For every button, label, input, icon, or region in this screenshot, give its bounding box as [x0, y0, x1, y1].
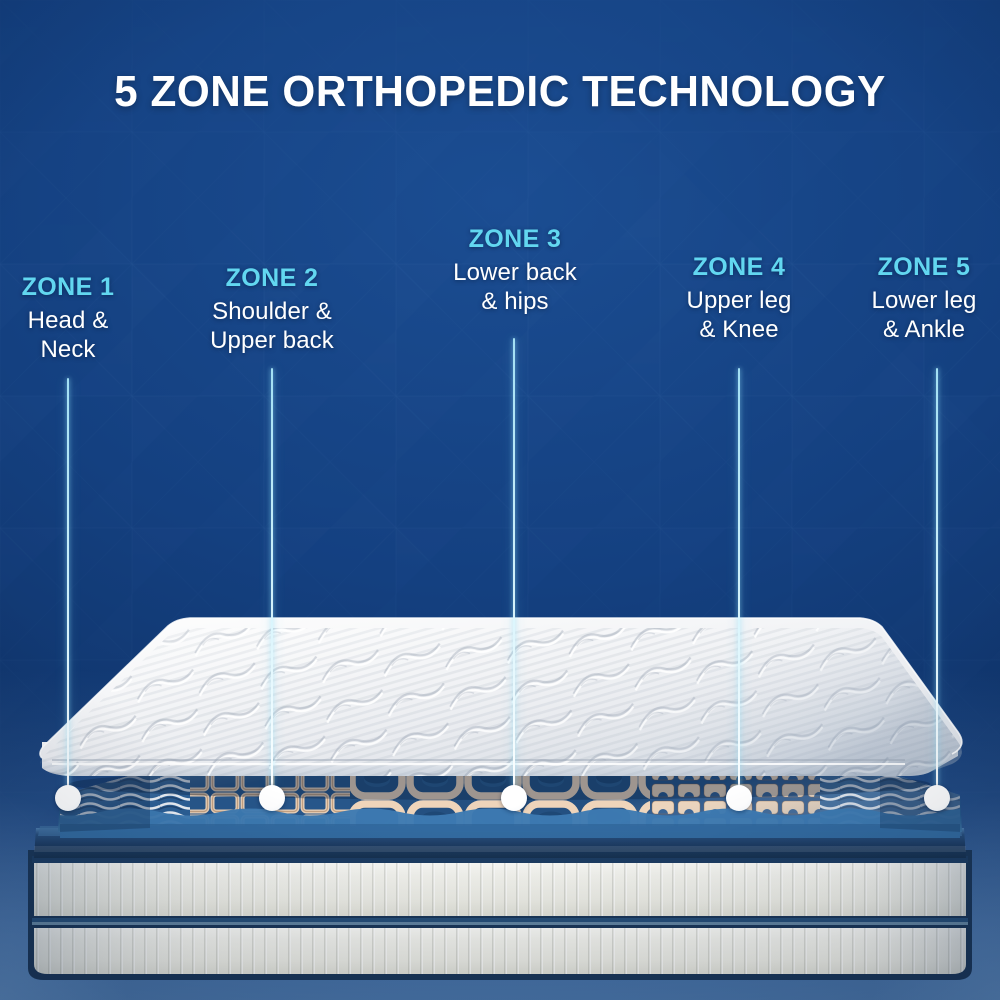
zone-5-desc-line-2: & Ankle [848, 315, 1000, 344]
zone-3-name: ZONE 3 [420, 224, 610, 255]
zone-5-desc-line-1: Lower leg [848, 286, 1000, 315]
zone-3-label: ZONE 3 Lower back & hips [420, 224, 610, 316]
zone-5-name: ZONE 5 [848, 252, 1000, 283]
zone-2-leader-line [271, 368, 273, 803]
zone-1-desc-line-1: Head & [0, 306, 136, 335]
zone-3-desc-line-1: Lower back [420, 258, 610, 287]
zone-3-leader-line [513, 338, 515, 803]
left-glow [0, 580, 260, 1000]
zone-1-marker[interactable] [55, 785, 81, 811]
zone-4-label: ZONE 4 Upper leg & Knee [650, 252, 828, 344]
zone-5-label: ZONE 5 Lower leg & Ankle [848, 252, 1000, 344]
right-glow [740, 580, 1000, 1000]
zone-4-desc-line-2: & Knee [650, 315, 828, 344]
zone-2-desc-line-2: Upper back [176, 326, 368, 355]
zone-1-leader-line [67, 378, 69, 803]
zone-2-name: ZONE 2 [176, 263, 368, 294]
zone-5-leader-line [936, 368, 938, 803]
zone-1-desc-line-2: Neck [0, 335, 136, 364]
zone-1-label: ZONE 1 Head & Neck [0, 272, 136, 364]
zone-4-leader-line [738, 368, 740, 803]
zone-1-name: ZONE 1 [0, 272, 136, 303]
zone-2-marker[interactable] [259, 785, 285, 811]
zone-2-label: ZONE 2 Shoulder & Upper back [176, 263, 368, 355]
infographic-canvas: 5 ZONE ORTHOPEDIC TECHNOLOGY [0, 0, 1000, 1000]
zone-4-name: ZONE 4 [650, 252, 828, 283]
zone-4-marker[interactable] [726, 785, 752, 811]
zone-2-desc-line-1: Shoulder & [176, 297, 368, 326]
zone-3-marker[interactable] [501, 785, 527, 811]
zone-5-marker[interactable] [924, 785, 950, 811]
zone-3-desc-line-2: & hips [420, 287, 610, 316]
zone-4-desc-line-1: Upper leg [650, 286, 828, 315]
page-title: 5 ZONE ORTHOPEDIC TECHNOLOGY [20, 70, 980, 114]
